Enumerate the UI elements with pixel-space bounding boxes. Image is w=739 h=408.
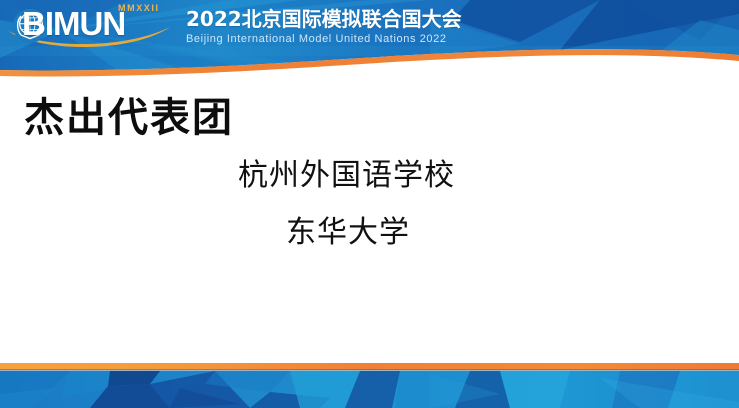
conference-title-english: Beijing International Model United Natio…	[186, 32, 462, 47]
header-band: BIMUN MMXXII 2022北京国际模拟联合国大会 Beijing Int…	[0, 0, 739, 78]
footer-orange-stripe	[0, 363, 739, 370]
conference-title-chinese: 2022北京国际模拟联合国大会	[186, 7, 462, 31]
award-recipient-1: 杭州外国语学校	[238, 158, 455, 194]
award-recipient-2: 东华大学	[286, 215, 410, 251]
page-title: 杰出代表团	[24, 94, 234, 142]
footer-band	[0, 358, 739, 408]
slide-body: 杰出代表团 杭州外国语学校 东华大学	[0, 78, 739, 358]
footer-background-graphic	[0, 358, 739, 408]
footer-polygon-pattern	[0, 371, 739, 408]
slide-root: BIMUN MMXXII 2022北京国际模拟联合国大会 Beijing Int…	[0, 0, 739, 408]
logo-roman-year: MMXXII	[118, 3, 160, 13]
header-content: BIMUN MMXXII 2022北京国际模拟联合国大会 Beijing Int…	[0, 0, 739, 52]
header-title-block: 2022北京国际模拟联合国大会 Beijing International Mo…	[186, 5, 462, 47]
bimun-logo: BIMUN MMXXII	[6, 1, 174, 51]
logo-wordmark: BIMUN	[22, 6, 125, 42]
